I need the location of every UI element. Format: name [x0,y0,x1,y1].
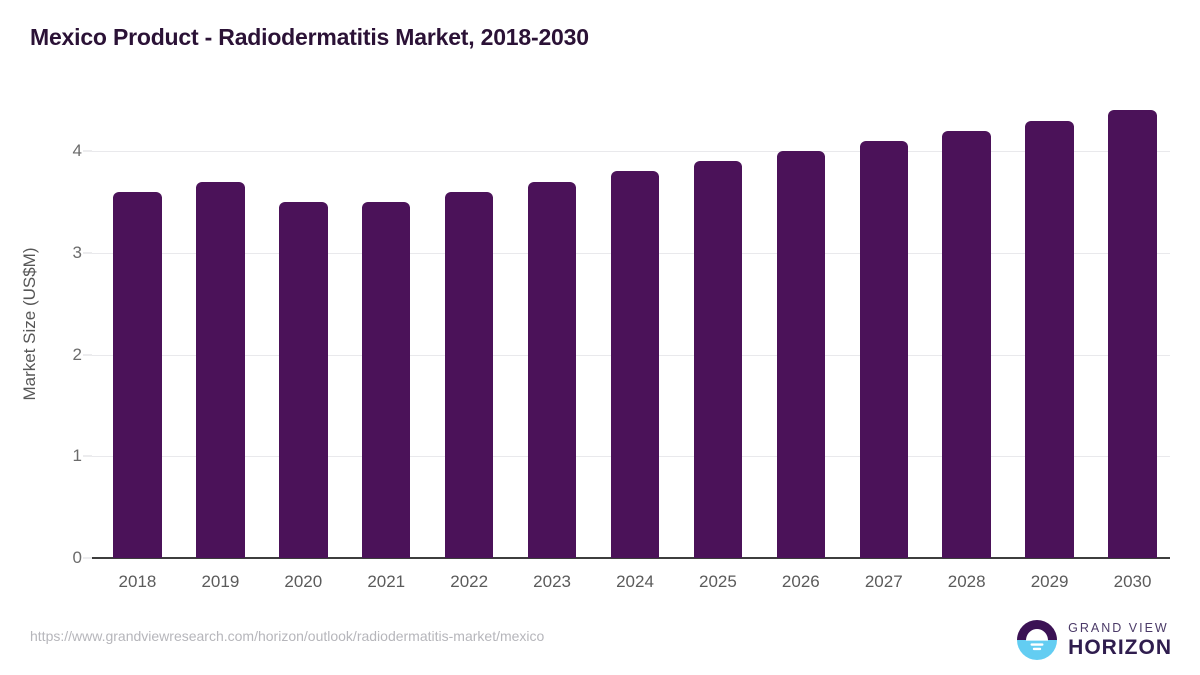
bar[interactable] [279,202,328,558]
bar[interactable] [1025,121,1074,558]
y-axis-tick-mark [83,151,92,152]
logo-bottom-text: HORIZON [1068,637,1172,658]
bar-column[interactable] [611,90,660,558]
x-axis-tick-label: 2021 [345,572,428,592]
x-axis-tick-label: 2030 [1091,572,1174,592]
page-title: Mexico Product - Radiodermatitis Market,… [30,24,589,51]
x-axis-tick-label: 2023 [511,572,594,592]
bar-column[interactable] [1025,90,1074,558]
bar[interactable] [362,202,411,558]
x-axis-tick-label: 2029 [1008,572,1091,592]
bar[interactable] [1108,110,1157,558]
y-axis-tick-mark [83,558,92,559]
bar[interactable] [777,151,826,558]
bar[interactable] [611,171,660,558]
bar-column[interactable] [362,90,411,558]
x-axis-tick-label: 2026 [759,572,842,592]
bar[interactable] [860,141,909,558]
source-url[interactable]: https://www.grandviewresearch.com/horizo… [30,628,544,644]
x-axis-tick-label: 2024 [594,572,677,592]
x-axis-tick-label: 2020 [262,572,345,592]
y-axis-tick-mark [83,456,92,457]
brand-logo: GRAND VIEW HORIZON [1015,618,1172,662]
bar[interactable] [113,192,162,558]
bar-column[interactable] [445,90,494,558]
x-axis-tick-label: 2019 [179,572,262,592]
bar-column[interactable] [860,90,909,558]
bar-series [92,90,1170,558]
x-axis-tick-label: 2028 [925,572,1008,592]
bar-column[interactable] [196,90,245,558]
x-axis-tick-label: 2018 [96,572,179,592]
y-axis-tick-mark [83,354,92,355]
bar-column[interactable] [113,90,162,558]
bar[interactable] [528,182,577,558]
logo-wordmark: GRAND VIEW HORIZON [1068,622,1172,659]
bar[interactable] [942,131,991,558]
bar-column[interactable] [279,90,328,558]
bar-column[interactable] [528,90,577,558]
x-axis-tick-label: 2025 [676,572,759,592]
bar-column[interactable] [942,90,991,558]
bar[interactable] [694,161,743,558]
grand-view-horizon-logo-icon [1015,618,1059,662]
bar-column[interactable] [694,90,743,558]
bar[interactable] [196,182,245,558]
bar-column[interactable] [1108,90,1157,558]
y-axis-tick-label: 0 [22,548,82,568]
y-axis-tick-mark [83,252,92,253]
y-axis-tick-label: 4 [22,141,82,161]
y-axis-tick-label: 3 [22,243,82,263]
chart-canvas: Mexico Product - Radiodermatitis Market,… [0,0,1200,675]
bar[interactable] [445,192,494,558]
plot-area: Market Size (US$M) 01234 201820192020202… [92,90,1170,558]
logo-top-text: GRAND VIEW [1068,622,1172,635]
y-axis-title: Market Size (US$M) [20,247,40,400]
x-axis-tick-label: 2027 [842,572,925,592]
y-axis-tick-label: 1 [22,446,82,466]
y-axis-tick-label: 2 [22,345,82,365]
bar-column[interactable] [777,90,826,558]
x-axis-tick-label: 2022 [428,572,511,592]
